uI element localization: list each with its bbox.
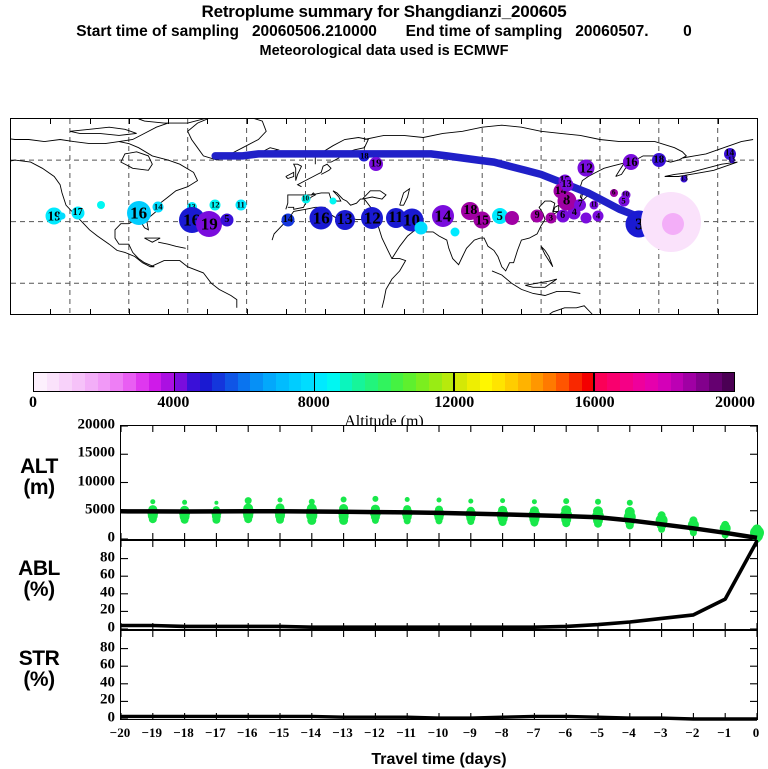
- plume-blob: [335, 210, 355, 230]
- alt-scatter-point: [530, 519, 538, 527]
- plume-blob: [474, 211, 491, 228]
- alt-scatter-point: [339, 516, 348, 525]
- start-time-label: Start time of sampling: [76, 23, 239, 40]
- map-tick: [90, 119, 91, 124]
- colorbar-cell: [645, 373, 658, 391]
- map-tick: [50, 309, 51, 314]
- colorbar-cell: [416, 373, 429, 391]
- plume-blob: [581, 212, 592, 223]
- x-tick-label: −13: [332, 725, 352, 741]
- x-tick-label: −1: [717, 725, 731, 741]
- colorbar-cell: [378, 373, 391, 391]
- str-panel[interactable]: [120, 630, 758, 720]
- colorbar-cell: [492, 373, 505, 391]
- sampling-time-line: Start time of sampling 20060506.210000 E…: [0, 22, 768, 42]
- colorbar-cell: [136, 373, 149, 391]
- colorbar-cell: [518, 373, 531, 391]
- y-tick-label: 20: [0, 692, 115, 709]
- abl-row-label: ABL(%): [6, 558, 72, 600]
- map-tick: [364, 309, 365, 314]
- plume-blob: [369, 157, 383, 171]
- map-tick: [521, 309, 522, 314]
- alt-scatter-point: [214, 501, 218, 505]
- figure-titles: Retroplume summary for Shangdianzi_20060…: [0, 2, 768, 61]
- colorbar-cell: [569, 373, 582, 391]
- colorbar-divider: [453, 373, 455, 391]
- plume-blob: [301, 195, 310, 204]
- plume-blob: [623, 154, 639, 170]
- colorbar-cell: [314, 373, 327, 391]
- colorbar-cell: [212, 373, 225, 391]
- colorbar-cell: [225, 373, 238, 391]
- colorbar-section: 040008000120001600020000 Altitude (m): [0, 368, 768, 428]
- x-tick-label: −4: [622, 725, 636, 741]
- colorbar-cell: [59, 373, 72, 391]
- alt-plot-svg: [121, 426, 757, 539]
- map-tick: [129, 119, 130, 124]
- alt-row-label: ALT(m): [6, 456, 72, 498]
- abl-line: [121, 541, 757, 627]
- map-tick: [168, 119, 169, 124]
- xaxis-title: Travel time (days): [120, 751, 758, 769]
- map-tick: [90, 309, 91, 314]
- end-time-value: 20060507.: [575, 23, 648, 40]
- y-tick-label: 20: [0, 602, 115, 619]
- colorbar-cell: [340, 373, 353, 391]
- colorbar-cell: [480, 373, 493, 391]
- plume-blob: [127, 201, 151, 225]
- colorbar-cell: [543, 373, 556, 391]
- x-tick-label: −5: [590, 725, 604, 741]
- map-tick: [718, 119, 719, 124]
- plume-blob: [662, 213, 684, 235]
- colorbar-cell: [327, 373, 340, 391]
- colorbar-cell: [722, 373, 735, 391]
- abl-row-label-line2: (%): [6, 579, 72, 600]
- map-tick: [325, 119, 326, 124]
- colorbar-cell: [85, 373, 98, 391]
- retroplume-map[interactable]: 1917161413121116195141613121110181910141…: [10, 118, 758, 315]
- alt-scatter-point: [532, 499, 537, 504]
- plume-blob: [652, 153, 666, 167]
- x-tick-label: −6: [558, 725, 572, 741]
- plume-blob: [590, 201, 599, 210]
- plume-blob: [729, 157, 735, 163]
- colorbar-cell: [594, 373, 607, 391]
- plume-blob: [310, 206, 333, 229]
- colorbar-cell: [187, 373, 200, 391]
- map-tick: [247, 119, 248, 124]
- map-tick: [561, 309, 562, 314]
- plume-blob: [505, 211, 519, 225]
- colorbar-tick-label: 0: [29, 394, 37, 412]
- colorbar-tick-label: 8000: [298, 394, 330, 412]
- plume-blob: [574, 199, 586, 211]
- plume-blob: [545, 212, 556, 223]
- alt-row-label-line2: (m): [6, 477, 72, 498]
- start-time-value: 20060506.210000: [252, 23, 377, 40]
- alt-scatter-point: [499, 518, 507, 526]
- abl-plot-svg: [121, 541, 757, 629]
- colorbar-cell: [301, 373, 314, 391]
- map-tick: [207, 119, 208, 124]
- plume-blob: [361, 207, 383, 229]
- alt-scatter-point: [307, 516, 316, 525]
- colorbar-cell: [556, 373, 569, 391]
- alt-scatter-point: [563, 498, 569, 504]
- alt-panel[interactable]: [120, 425, 758, 540]
- plume-blob: [210, 200, 221, 211]
- colorbar-cell: [607, 373, 620, 391]
- map-tick: [600, 119, 601, 124]
- map-tick: [718, 309, 719, 314]
- y-tick-label: 0: [0, 710, 115, 727]
- plume-blob: [432, 205, 454, 227]
- alt-scatter-point: [594, 520, 602, 528]
- str-row-label-line2: (%): [6, 669, 72, 690]
- map-tick: [521, 119, 522, 124]
- alt-scatter-point: [467, 518, 474, 525]
- map-tick: [482, 119, 483, 124]
- plume-blob: [97, 201, 105, 209]
- colorbar-cell: [352, 373, 365, 391]
- x-tick-label: −12: [364, 725, 384, 741]
- map-tick: [247, 309, 248, 314]
- plume-blob: [281, 213, 294, 226]
- colorbar-cell: [289, 373, 302, 391]
- colorbar-tick-label: 12000: [434, 394, 474, 412]
- map-tick: [482, 309, 483, 314]
- y-tick-label: 0: [0, 530, 115, 547]
- x-tick-label: −9: [463, 725, 477, 741]
- plume-blob: [59, 212, 66, 219]
- retroplume-summary-page: Retroplume summary for Shangdianzi_20060…: [0, 0, 768, 768]
- colorbar-cell: [238, 373, 251, 391]
- colorbar-cell: [531, 373, 544, 391]
- altitude-colorbar[interactable]: [33, 372, 735, 392]
- str-row-label: STR(%): [6, 648, 72, 690]
- x-tick-label: −17: [205, 725, 225, 741]
- map-tick: [50, 119, 51, 124]
- x-tick-label: −14: [301, 725, 321, 741]
- plume-blob: [71, 207, 84, 220]
- plume-blob: [450, 227, 459, 236]
- map-tick: [207, 309, 208, 314]
- map-tick: [639, 309, 640, 314]
- colorbar-cell: [683, 373, 696, 391]
- x-tick-label: −10: [428, 725, 448, 741]
- alt-scatter-point: [245, 497, 252, 504]
- alt-scatter-point: [500, 498, 505, 503]
- plume-blob: [415, 221, 428, 234]
- map-tick: [443, 309, 444, 314]
- x-tick-label: −18: [173, 725, 193, 741]
- plume-blob: [610, 189, 618, 197]
- alt-scatter-point: [595, 499, 601, 505]
- x-tick-label: −15: [269, 725, 289, 741]
- plume-blob: [593, 210, 604, 221]
- colorbar-cell: [454, 373, 467, 391]
- colorbar-tick-label: 4000: [157, 394, 189, 412]
- plume-blob: [359, 150, 370, 161]
- colorbar-divider: [593, 373, 595, 391]
- end-time-label: End time of sampling: [406, 23, 563, 40]
- map-tick: [678, 309, 679, 314]
- colorbar-cell: [250, 373, 263, 391]
- alt-scatter-point: [372, 496, 378, 502]
- map-tick: [168, 309, 169, 314]
- map-tick: [404, 309, 405, 314]
- x-tick-label: 0: [753, 725, 760, 741]
- alt-scatter-point: [372, 517, 379, 524]
- colorbar-cell: [467, 373, 480, 391]
- colorbar-tick-label: 20000: [715, 394, 755, 412]
- colorbar-cell: [442, 373, 455, 391]
- colorbar-cell: [149, 373, 162, 391]
- colorbar-tick-label: 16000: [575, 394, 615, 412]
- colorbar-cell: [123, 373, 136, 391]
- colorbar-cell: [671, 373, 684, 391]
- timeseries-section: 05000100001500020000ALT(m)020406080ABL(%…: [0, 425, 768, 768]
- x-tick-label: −8: [495, 725, 509, 741]
- alt-scatter-point: [437, 498, 442, 503]
- map-tick: [404, 119, 405, 124]
- x-tick-label: −16: [237, 725, 257, 741]
- alt-scatter-point: [150, 499, 155, 504]
- page-title: Retroplume summary for Shangdianzi_20060…: [0, 2, 768, 22]
- x-tick-label: −3: [654, 725, 668, 741]
- alt-scatter-point: [627, 500, 633, 506]
- alt-scatter-point: [244, 515, 252, 523]
- colorbar-cell: [403, 373, 416, 391]
- alt-scatter-point: [181, 516, 189, 524]
- map-tick: [639, 119, 640, 124]
- map-tick: [561, 119, 562, 124]
- end-time-seconds: 0: [683, 23, 692, 40]
- str-plot-svg: [121, 631, 757, 719]
- map-tick: [129, 309, 130, 314]
- x-tick-label: −7: [526, 725, 540, 741]
- map-tick: [286, 119, 287, 124]
- plume-blob: [618, 196, 629, 207]
- colorbar-cell: [391, 373, 404, 391]
- colorbar-cell: [200, 373, 213, 391]
- alt-scatter-point: [436, 517, 443, 524]
- colorbar-cell: [633, 373, 646, 391]
- colorbar-cell: [505, 373, 518, 391]
- colorbar-cell: [72, 373, 85, 391]
- map-tick: [325, 309, 326, 314]
- str-row-label-line1: STR: [6, 648, 72, 669]
- colorbar-cell: [696, 373, 709, 391]
- map-tick: [286, 309, 287, 314]
- colorbar-cell: [709, 373, 722, 391]
- plume-blob: [560, 178, 573, 191]
- plume-blob: [681, 175, 688, 182]
- colorbar-cell: [110, 373, 123, 391]
- y-tick-label: 5000: [0, 501, 115, 518]
- map-tick: [443, 119, 444, 124]
- plume-blob: [220, 213, 233, 226]
- plume-blob: [330, 198, 337, 205]
- x-tick-label: −19: [142, 725, 162, 741]
- x-tick-label: −11: [396, 725, 416, 741]
- colorbar-cell: [161, 373, 174, 391]
- colorbar-cell: [34, 373, 47, 391]
- colorbar-cell: [47, 373, 60, 391]
- alt-scatter-point: [658, 526, 665, 533]
- alt-scatter-point: [276, 516, 284, 524]
- map-tick: [364, 119, 365, 124]
- abl-row-label-line1: ABL: [6, 558, 72, 579]
- plume-blob: [153, 202, 164, 213]
- alt-scatter-point: [182, 500, 187, 505]
- colorbar-cell: [174, 373, 187, 391]
- alt-scatter-point: [212, 516, 220, 524]
- alt-scatter-point: [562, 519, 570, 527]
- x-tick-label: −20: [110, 725, 130, 741]
- map-tick: [678, 119, 679, 124]
- y-tick-label: 0: [0, 620, 115, 637]
- plume-blob: [531, 209, 544, 222]
- colorbar-cell: [98, 373, 111, 391]
- abl-panel[interactable]: [120, 540, 758, 630]
- colorbar-cell: [365, 373, 378, 391]
- plume-blob: [196, 211, 222, 237]
- map-tick: [600, 309, 601, 314]
- colorbar-divider: [174, 373, 176, 391]
- colorbar-cell: [620, 373, 633, 391]
- plume-blob: [235, 200, 246, 211]
- alt-scatter-point: [149, 515, 157, 523]
- alt-row-label-line1: ALT: [6, 456, 72, 477]
- alt-scatter-point: [405, 497, 410, 502]
- y-tick-label: 20000: [0, 417, 115, 434]
- colorbar-cell: [429, 373, 442, 391]
- alt-scatter-point: [404, 517, 411, 524]
- x-tick-label: −2: [685, 725, 699, 741]
- colorbar-cell: [658, 373, 671, 391]
- colorbar-divider: [314, 373, 316, 391]
- alt-scatter-point: [278, 498, 283, 503]
- colorbar-cell: [276, 373, 289, 391]
- alt-scatter-point: [341, 497, 347, 503]
- plume-blob: [578, 160, 595, 177]
- met-data-line: Meteorological data used is ECMWF: [0, 42, 768, 61]
- colorbar-cell: [263, 373, 276, 391]
- alt-scatter-point: [468, 499, 473, 504]
